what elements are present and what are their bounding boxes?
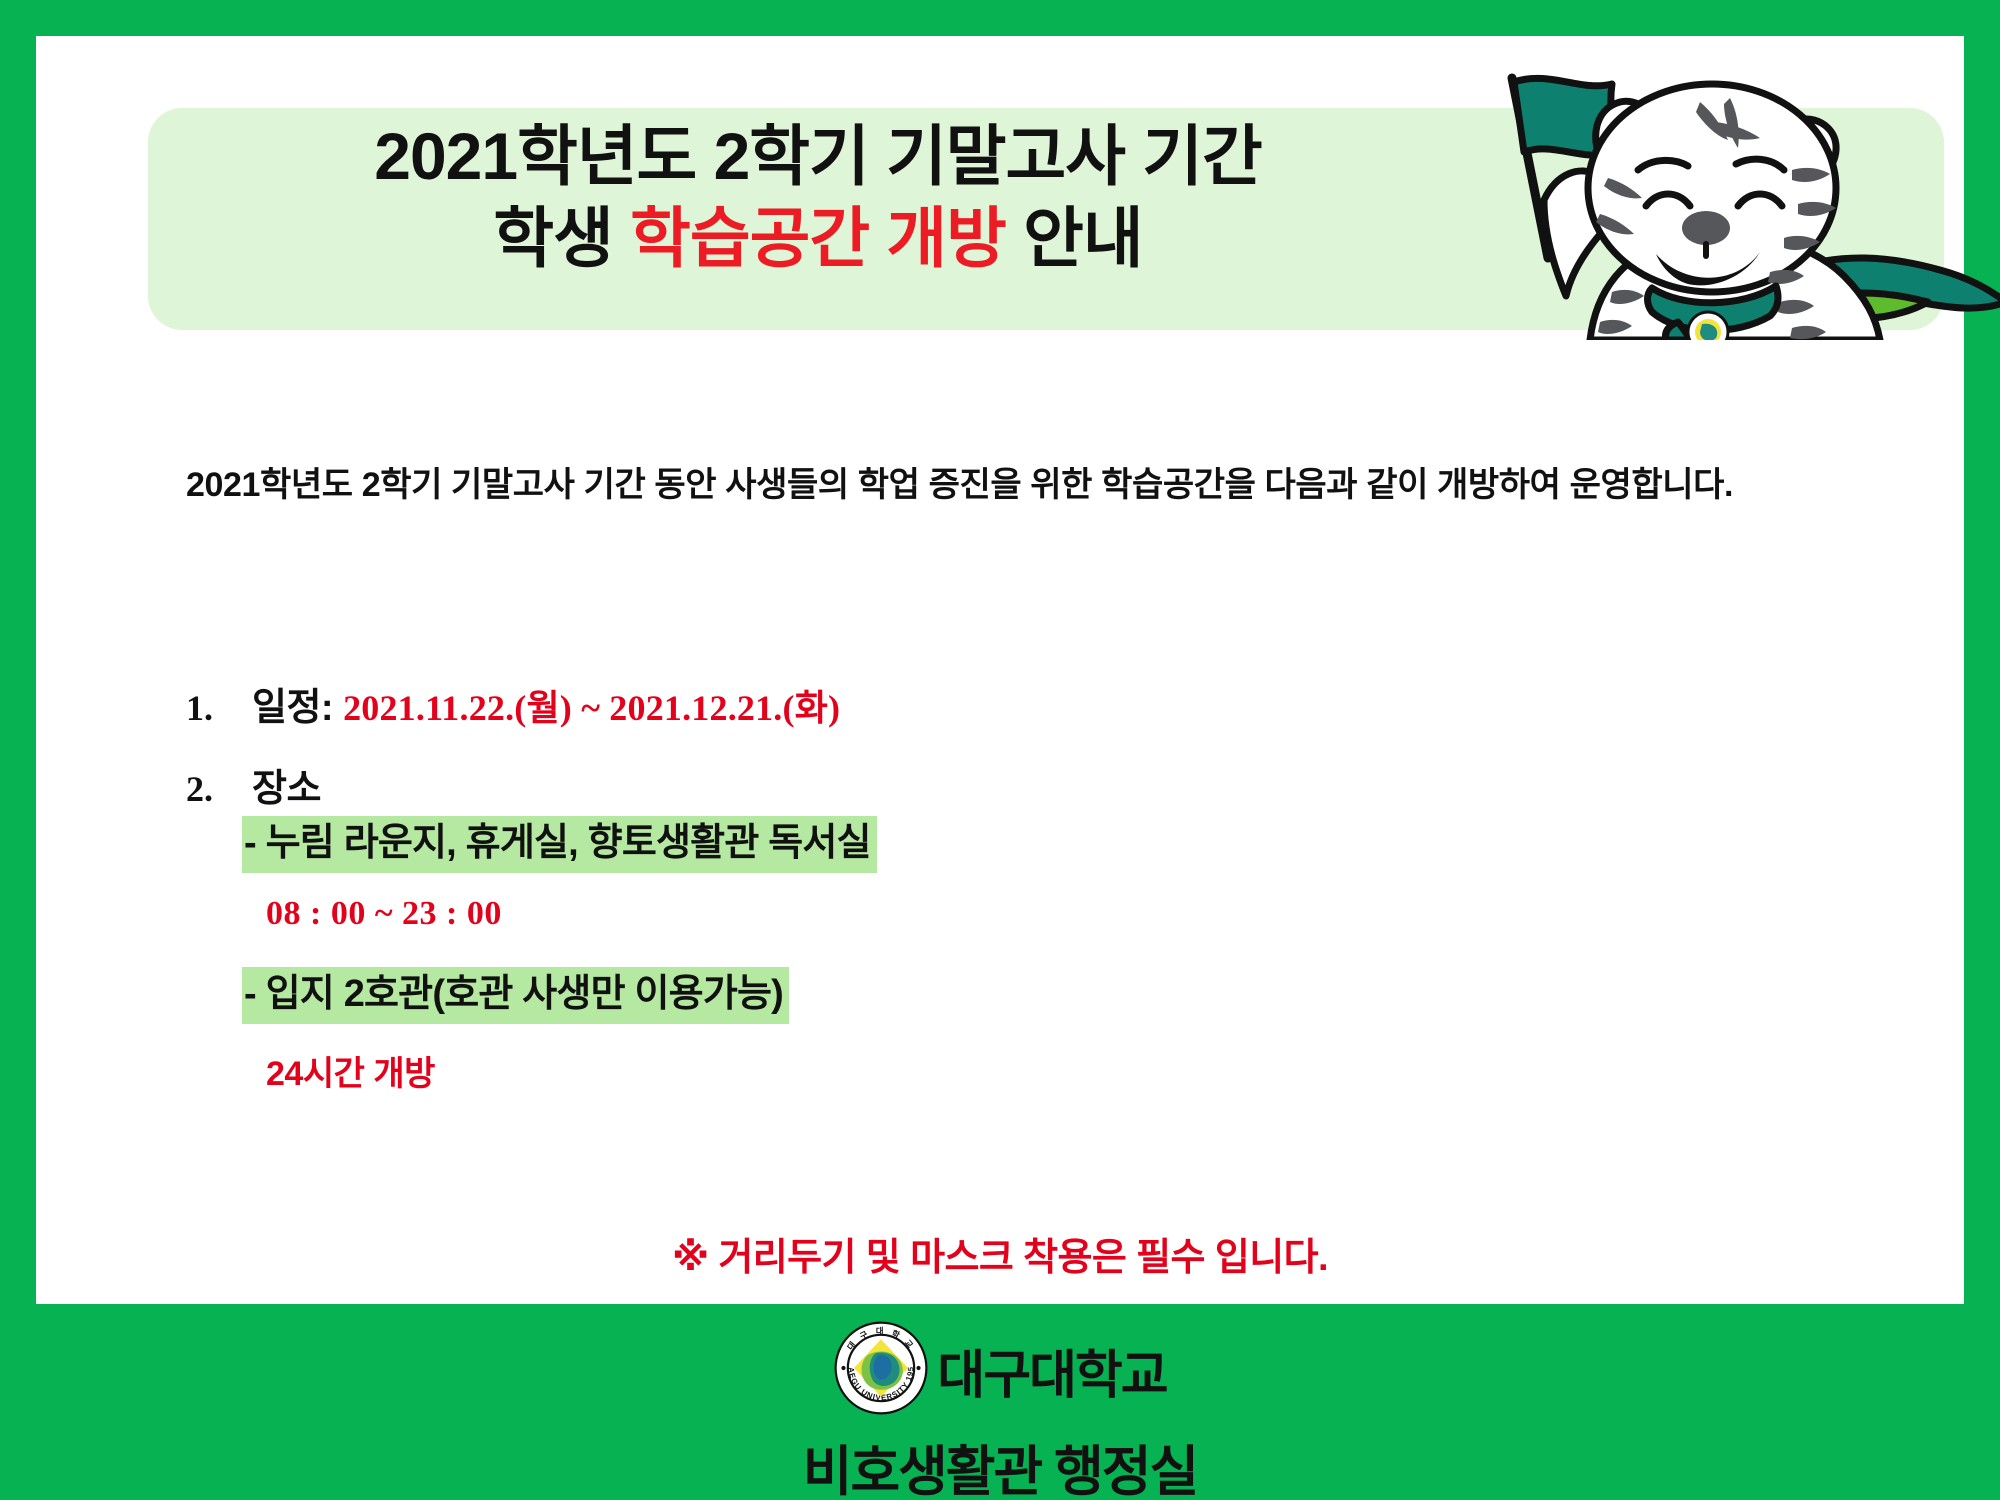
- list-item: 2. 장소: [186, 757, 1886, 812]
- title-line-2-before: 학생: [493, 201, 630, 275]
- page-title: 2021학년도 2학기 기말고사 기간 학생 학습공간 개방 안내: [148, 120, 1488, 276]
- title-line-2: 학생 학습공간 개방 안내: [148, 202, 1488, 276]
- place-name: - 입지 2호관(호관 사생만 이용가능): [242, 967, 789, 1024]
- footer: 대 구 대 학 교 DAEGU UNIVERSITY 1956 대구: [0, 1304, 2000, 1500]
- title-line-2-after: 안내: [1006, 201, 1143, 275]
- footer-university-name: 대구대학교: [937, 1333, 1166, 1408]
- numbered-list: 1. 일정: 2021.11.22.(월) ~ 2021.12.21.(화) 2…: [186, 676, 1886, 838]
- place-hours: 24시간 개방: [266, 1046, 1742, 1095]
- list-item-number: 1.: [186, 687, 252, 729]
- list-item-label: 일정:: [252, 676, 333, 731]
- footer-office-name: 비호생활관 행정실: [803, 1427, 1197, 1500]
- place-list: - 누림 라운지, 휴게실, 향토생활관 독서실 08 : 00 ~ 23 : …: [242, 816, 1742, 1095]
- daegu-university-seal-icon: 대 구 대 학 교 DAEGU UNIVERSITY 1956: [833, 1320, 929, 1421]
- list-item-number: 2.: [186, 768, 252, 810]
- notice-text: ※ 거리두기 및 마스크 착용은 필수 입니다.: [36, 1226, 1964, 1281]
- list-item-label: 장소: [252, 757, 321, 812]
- poster-root: 2021학년도 2학기 기말고사 기간 학생 학습공간 개방 안내 2021학년…: [0, 0, 2000, 1500]
- place-entry: - 입지 2호관(호관 사생만 이용가능) 24시간 개방: [242, 967, 1742, 1095]
- place-spacer: [242, 933, 1742, 967]
- list-item: 1. 일정: 2021.11.22.(월) ~ 2021.12.21.(화): [186, 676, 1886, 731]
- place-hours: 08 : 00 ~ 23 : 00: [266, 895, 1742, 933]
- content-card: 2021학년도 2학기 기말고사 기간 학생 학습공간 개방 안내 2021학년…: [36, 36, 1964, 1304]
- list-item-value: 2021.11.22.(월) ~ 2021.12.21.(화): [343, 679, 840, 731]
- footer-brand: 대 구 대 학 교 DAEGU UNIVERSITY 1956 대구: [833, 1320, 1166, 1421]
- place-entry: - 누림 라운지, 휴게실, 향토생활관 독서실 08 : 00 ~ 23 : …: [242, 816, 1742, 933]
- title-line-1: 2021학년도 2학기 기말고사 기간: [148, 120, 1488, 194]
- intro-paragraph: 2021학년도 2학기 기말고사 기간 동안 사생들의 학업 증진을 위한 학습…: [186, 454, 1886, 517]
- place-name: - 누림 라운지, 휴게실, 향토생활관 독서실: [242, 816, 877, 873]
- title-line-2-highlight: 학습공간 개방: [630, 201, 1006, 275]
